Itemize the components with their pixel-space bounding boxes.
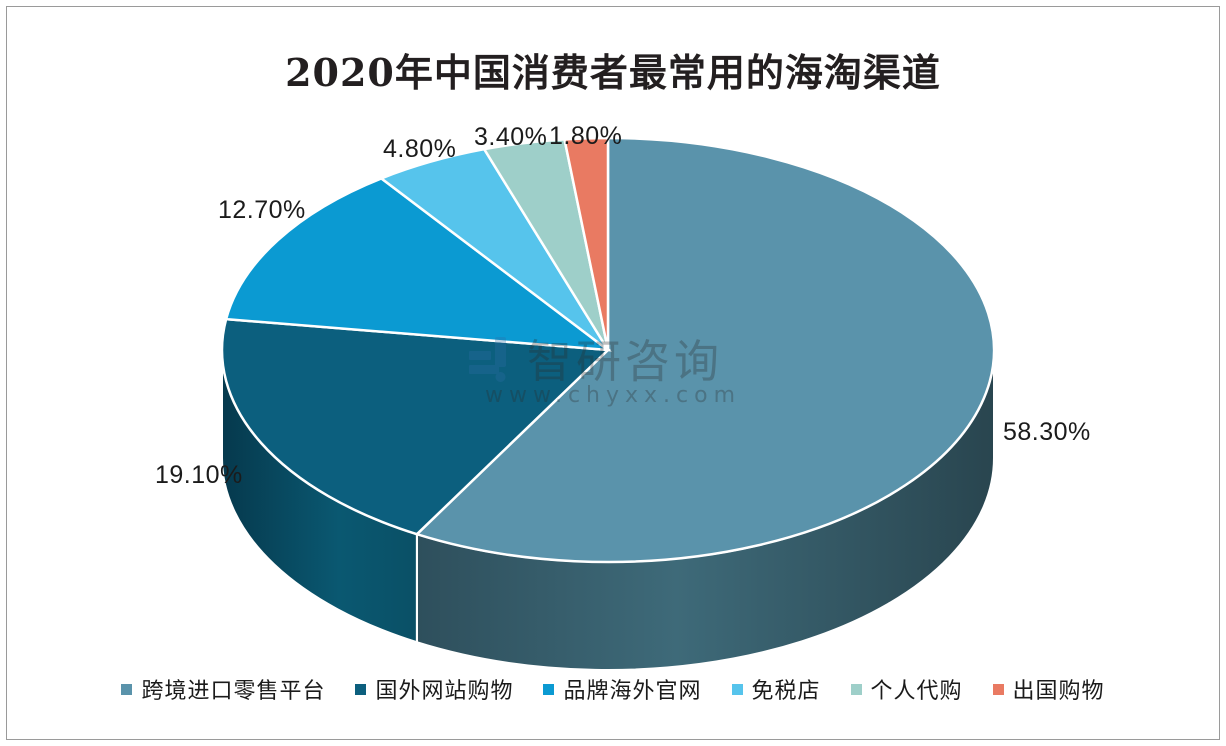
- legend-item[interactable]: 出国购物: [993, 673, 1105, 705]
- legend-item-label: 品牌海外官网: [563, 673, 701, 705]
- slice-label-4: 4.80%: [383, 135, 456, 164]
- legend-swatch-icon: [732, 684, 743, 695]
- legend-item-label: 出国购物: [1013, 673, 1105, 705]
- pie-chart-plot: [0, 0, 1226, 746]
- pie-slices-group: [222, 138, 994, 670]
- slice-label-19: 19.10%: [155, 461, 243, 490]
- legend-item-label: 国外网站购物: [375, 673, 513, 705]
- legend-item[interactable]: 个人代购: [851, 673, 963, 705]
- legend-item[interactable]: 免税店: [732, 673, 821, 705]
- legend-swatch-icon: [851, 684, 862, 695]
- slice-label-1: 1.80%: [549, 122, 622, 151]
- legend-item[interactable]: 品牌海外官网: [543, 673, 701, 705]
- legend-item-label: 免税店: [752, 673, 821, 705]
- legend-swatch-icon: [121, 684, 132, 695]
- chart-page: 2020年中国消费者最常用的海淘渠道 58.30%19.10%12.70%4.8…: [0, 0, 1226, 746]
- legend-swatch-icon: [993, 684, 1004, 695]
- slice-label-12: 12.70%: [218, 196, 306, 225]
- legend-swatch-icon: [355, 684, 366, 695]
- legend-item-label: 跨境进口零售平台: [141, 673, 325, 705]
- legend-item[interactable]: 国外网站购物: [355, 673, 513, 705]
- chart-legend: 跨境进口零售平台国外网站购物品牌海外官网免税店个人代购出国购物: [0, 673, 1226, 705]
- legend-item[interactable]: 跨境进口零售平台: [121, 673, 325, 705]
- slice-label-58: 58.30%: [1003, 418, 1091, 447]
- legend-swatch-icon: [543, 684, 554, 695]
- slice-label-3: 3.40%: [474, 123, 547, 152]
- legend-item-label: 个人代购: [871, 673, 963, 705]
